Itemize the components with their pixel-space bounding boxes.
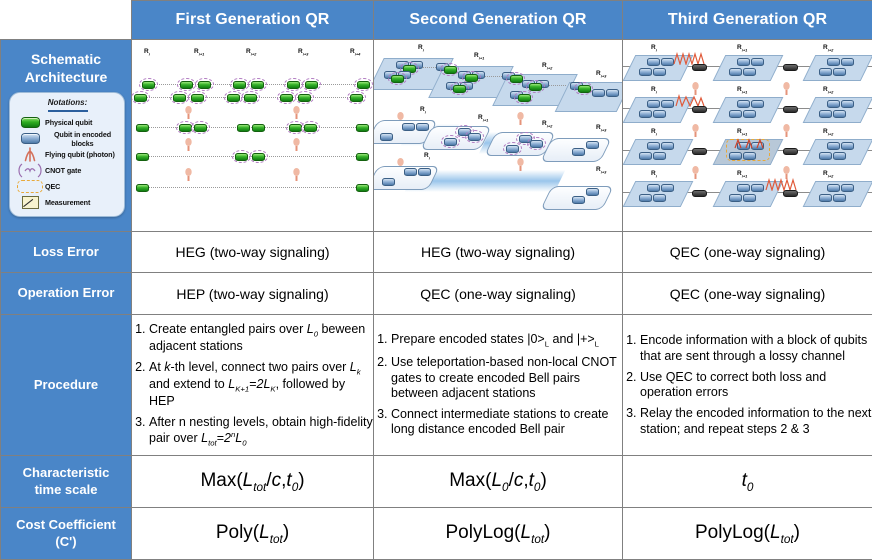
time-scale-third-gen: t0: [623, 456, 872, 508]
loss-error-second-gen: HEG (two-way signaling): [374, 232, 623, 273]
station-label: Ri: [651, 86, 657, 94]
flying-photon-icon: [292, 106, 301, 120]
row-cost-coefficient: Cost Coefficient(C') Poly(Ltot) PolyLog(…: [1, 508, 872, 560]
cost-coefficient-third-gen: PolyLog(Ltot): [623, 508, 872, 560]
measurement-node: [783, 148, 798, 155]
flying-photon-icon: [516, 112, 525, 126]
station-label: Ri: [420, 106, 426, 114]
gen2-diagram: Ri Ri+1 Ri+2 Ri+3: [374, 40, 622, 231]
station-label: Ri+1: [737, 170, 747, 178]
row-procedure: Procedure Create entangled pairs over L0…: [1, 315, 872, 456]
measurement-node: [783, 190, 798, 197]
flying-photon-icon: [691, 124, 700, 138]
legend-label: Measurement: [45, 198, 90, 207]
loss-error-third-gen: QEC (one-way signaling): [623, 232, 872, 273]
cost-coefficient-second-gen: PolyLog(Ltot): [374, 508, 623, 560]
station-label: Ri+1: [474, 52, 484, 60]
legend-item-flying-qubit: Flying qubit (photon): [15, 147, 120, 163]
measurement-node: [692, 64, 707, 71]
row-operation-error: Operation Error HEP (two-way signaling) …: [1, 273, 872, 315]
row-label-procedure: Procedure: [1, 315, 132, 456]
station-label: Ri+3: [298, 48, 308, 56]
row-label-characteristic-time-scale: Characteristictime scale: [1, 456, 132, 508]
station-label: Ri+1: [737, 128, 747, 136]
station-label: Ri+1: [737, 44, 747, 52]
legend-label: QEC: [45, 182, 60, 191]
qec-dashed-icon: [15, 180, 45, 193]
table-header-row: First Generation QR Second Generation QR…: [1, 1, 872, 40]
station-label: Ri: [651, 44, 657, 52]
station-label: Ri+1: [194, 48, 204, 56]
legend-label: CNOT gate: [45, 166, 81, 175]
measurement-node: [783, 64, 798, 71]
blue-capsule-icon: [15, 133, 45, 144]
station-label: Ri: [424, 152, 430, 160]
station-label: Ri+1: [478, 114, 488, 122]
time-scale-first-gen: Max(Ltot/c,t0): [132, 456, 374, 508]
procedure-step: At k-th level, connect two pairs over Lk…: [149, 360, 373, 409]
station-label: Ri+3: [596, 166, 606, 174]
time-scale-second-gen: Max(L0/c,t0): [374, 456, 623, 508]
column-header-second-gen: Second Generation QR: [374, 1, 623, 40]
station-label: Ri+3: [596, 70, 606, 78]
legend-title: Notations:: [15, 98, 120, 108]
station-label: Ri+2: [542, 62, 552, 70]
legend-divider: [48, 110, 88, 112]
flying-photon-icon: [691, 166, 700, 180]
operation-error-third-gen: QEC (one-way signaling): [623, 273, 872, 315]
legend-item-qec: QEC: [15, 179, 120, 195]
procedure-step: Create entangled pairs over L0 beween ad…: [149, 322, 373, 354]
station-label: Ri+2: [823, 128, 833, 136]
column-header-first-gen: First Generation QR: [132, 1, 374, 40]
station-label: Ri: [651, 170, 657, 178]
column-header-third-gen: Third Generation QR: [623, 1, 872, 40]
measurement-node: [692, 190, 707, 197]
gen3-diagram: Ri Ri+1 Ri+2: [623, 40, 872, 231]
row-label-text: Schematic Architecture: [1, 50, 131, 86]
station-label: Ri: [144, 48, 150, 56]
schematic-third-generation: Ri Ri+1 Ri+2: [623, 40, 872, 232]
legend-label: Flying qubit (photon): [45, 150, 115, 159]
legend-item-encoded-qubit: Qubit in encoded blocks: [15, 131, 120, 147]
schematic-second-generation: Ri Ri+1 Ri+2 Ri+3: [374, 40, 623, 232]
station-label: Ri: [418, 44, 424, 52]
notations-legend: Notations: Physical qubit Qubit in encod…: [9, 92, 125, 216]
row-label-schematic-architecture: Schematic Architecture Notations: Physic…: [1, 40, 132, 232]
flying-photon-icon: [782, 82, 791, 96]
procedure-step: Encode information with a block of qubit…: [640, 333, 872, 364]
procedure-second-gen: Prepare encoded states |0>L and |+>L Use…: [374, 315, 623, 456]
operation-error-first-gen: HEP (two-way signaling): [132, 273, 374, 315]
legend-item-physical-qubit: Physical qubit: [15, 115, 120, 131]
flying-photon-icon: [292, 168, 301, 182]
flying-photon-icon: [15, 147, 45, 162]
station-label: Ri+2: [823, 44, 833, 52]
qr-comparison-table: First Generation QR Second Generation QR…: [0, 0, 872, 560]
qec-correction-icon: [733, 137, 765, 153]
procedure-step: Prepare encoded states |0>L and |+>L: [391, 332, 622, 349]
green-capsule-icon: [15, 117, 45, 128]
legend-item-measurement: Measurement: [15, 195, 120, 211]
legend-label: Qubit in encoded blocks: [45, 130, 120, 149]
measurement-node: [692, 148, 707, 155]
legend-label: Physical qubit: [45, 118, 92, 127]
station-label: Ri+2: [823, 86, 833, 94]
procedure-step: Connect intermediate stations to create …: [391, 407, 622, 438]
cost-coefficient-first-gen: Poly(Ltot): [132, 508, 374, 560]
procedure-step: Use QEC to correct both loss and operati…: [640, 370, 872, 401]
flying-photon-icon: [184, 168, 193, 182]
flying-photon-icon: [782, 124, 791, 138]
procedure-step: Use teleportation-based non-local CNOT g…: [391, 355, 622, 401]
operation-error-second-gen: QEC (one-way signaling): [374, 273, 623, 315]
row-schematic-architecture: Schematic Architecture Notations: Physic…: [1, 40, 872, 232]
station-label: Ri+2: [542, 120, 552, 128]
station-label: Ri+4: [350, 48, 360, 56]
legend-item-cnot-gate: CNOT gate: [15, 163, 120, 179]
row-loss-error: Loss Error HEG (two-way signaling) HEG (…: [1, 232, 872, 273]
row-label-operation-error: Operation Error: [1, 273, 132, 315]
gen1-diagram: Ri Ri+1 Ri+2 Ri+3 Ri+4: [132, 40, 373, 231]
flying-photon-icon: [184, 138, 193, 152]
cnot-gate-icon: [15, 163, 45, 178]
row-label-cost-coefficient: Cost Coefficient(C'): [1, 508, 132, 560]
procedure-step: After n nesting levels, obtain high-fide…: [149, 415, 373, 448]
measurement-icon: [15, 196, 45, 209]
station-label: Ri+1: [737, 86, 747, 94]
flying-photon-icon: [184, 106, 193, 120]
station-label: Ri+3: [596, 124, 606, 132]
procedure-third-gen: Encode information with a block of qubit…: [623, 315, 872, 456]
procedure-step: Relay the encoded information to the nex…: [640, 406, 872, 437]
row-characteristic-time-scale: Characteristictime scale Max(Ltot/c,t0) …: [1, 456, 872, 508]
loss-error-first-gen: HEG (two-way signaling): [132, 232, 374, 273]
station-label: Ri: [651, 128, 657, 136]
measurement-node: [783, 106, 798, 113]
station-label: Ri+2: [246, 48, 256, 56]
schematic-first-generation: Ri Ri+1 Ri+2 Ri+3 Ri+4: [132, 40, 374, 232]
station-label: Ri+2: [823, 170, 833, 178]
measurement-node: [692, 106, 707, 113]
flying-photon-icon: [292, 138, 301, 152]
row-label-loss-error: Loss Error: [1, 232, 132, 273]
corner-cell: [1, 1, 132, 40]
procedure-first-gen: Create entangled pairs over L0 beween ad…: [132, 315, 374, 456]
